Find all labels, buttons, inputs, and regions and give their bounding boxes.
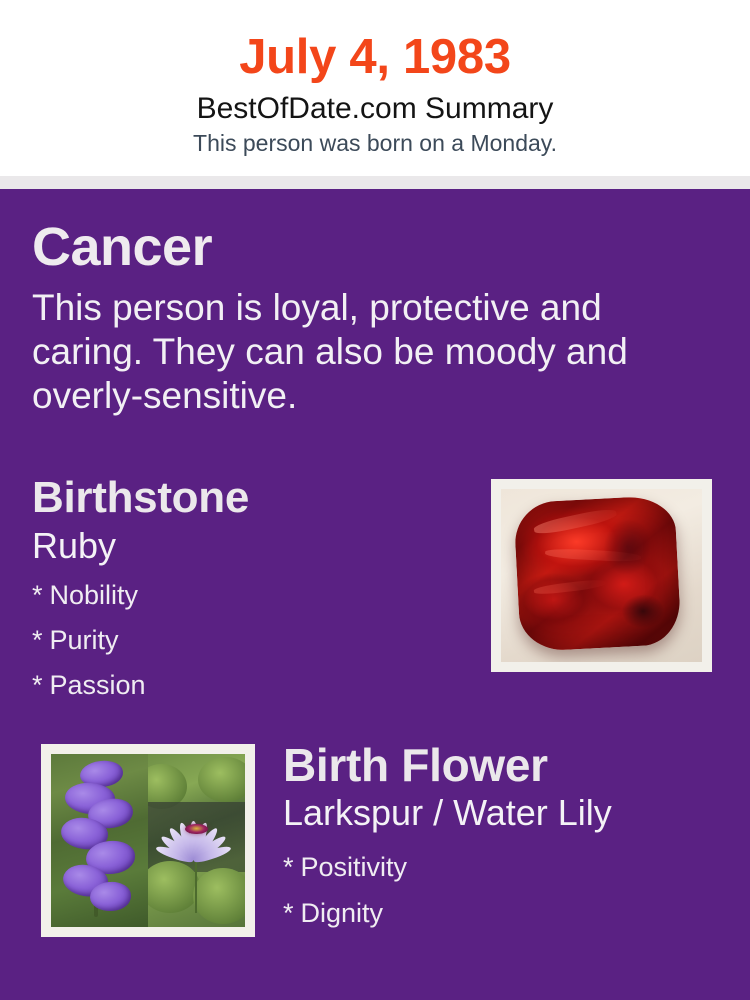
birth-flower-name: Larkspur / Water Lily: [283, 791, 723, 834]
birthstone-trait-label: Nobility: [50, 580, 139, 610]
site-summary-label: BestOfDate.com Summary: [0, 85, 750, 126]
birth-flower-trait-label: Positivity: [301, 852, 408, 882]
birth-flower-photo-frame: [41, 744, 255, 937]
birth-flower-trait-label: Dignity: [301, 898, 384, 928]
birthstone-section: Birthstone Ruby *Nobility *Purity *Passi…: [32, 473, 472, 708]
asterisk-icon: *: [283, 844, 294, 890]
birthstone-trait-label: Purity: [50, 625, 119, 655]
list-item: *Positivity: [283, 844, 723, 890]
list-item: *Nobility: [32, 573, 472, 618]
water-lily-flower-photo: [148, 754, 245, 927]
birth-flower-section: Birth Flower Larkspur / Water Lily *Posi…: [283, 739, 723, 936]
birth-flower-photo-pair: [51, 754, 245, 927]
asterisk-icon: *: [283, 890, 294, 936]
asterisk-icon: *: [32, 618, 43, 663]
zodiac-description: This person is loyal, protective and car…: [32, 277, 662, 418]
ruby-facet: [534, 578, 607, 596]
lily-bloom: [156, 792, 237, 865]
larkspur-flower-photo: [51, 754, 148, 927]
page-title-date: July 4, 1983: [0, 0, 750, 85]
zodiac-sign-name: Cancer: [32, 217, 692, 277]
lily-pad: [193, 868, 245, 923]
birthstone-trait-list: *Nobility *Purity *Passion: [32, 567, 472, 708]
birthstone-name: Ruby: [32, 523, 472, 567]
summary-page: July 4, 1983 BestOfDate.com Summary This…: [0, 0, 750, 1000]
ruby-inclusion: [621, 594, 664, 629]
page-header: July 4, 1983 BestOfDate.com Summary This…: [0, 0, 750, 176]
ruby-crystal-shape: [513, 495, 681, 652]
list-item: *Purity: [32, 618, 472, 663]
asterisk-icon: *: [32, 663, 43, 708]
ruby-facet: [601, 516, 656, 578]
birthstone-photo-frame: [491, 479, 712, 672]
asterisk-icon: *: [32, 573, 43, 618]
details-panel: Cancer This person is loyal, protective …: [0, 189, 750, 1000]
header-divider: [0, 176, 750, 189]
birth-flower-trait-list: *Positivity *Dignity: [283, 834, 723, 936]
born-day-tagline: This person was born on a Monday.: [0, 126, 750, 157]
list-item: *Passion: [32, 663, 472, 708]
birth-flower-heading: Birth Flower: [283, 739, 723, 791]
birthstone-heading: Birthstone: [32, 473, 472, 523]
lily-pad: [148, 861, 200, 913]
ruby-gemstone-photo: [501, 489, 702, 662]
birthstone-trait-label: Passion: [50, 670, 146, 700]
list-item: *Dignity: [283, 890, 723, 936]
zodiac-section: Cancer This person is loyal, protective …: [32, 217, 692, 418]
